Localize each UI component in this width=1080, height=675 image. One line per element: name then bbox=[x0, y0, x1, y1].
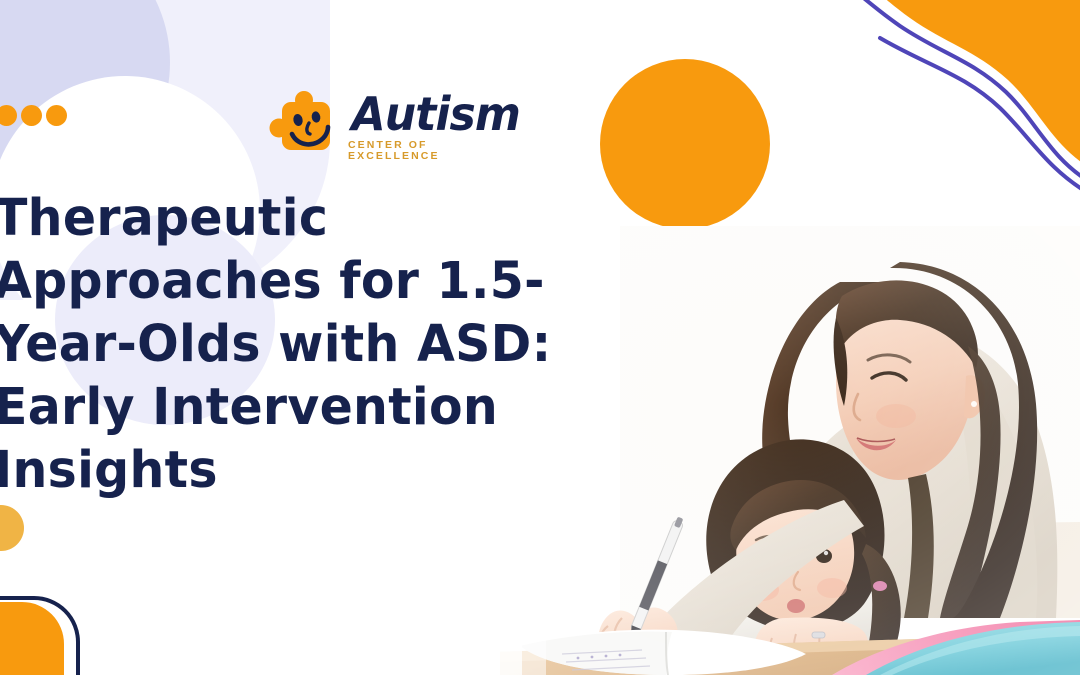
orange-dot-icon bbox=[21, 105, 42, 126]
amber-circle-decor bbox=[0, 505, 24, 551]
logo-text-block: Autism CENTER OF EXCELLENCE bbox=[348, 91, 523, 161]
orange-blob-top-right-decor bbox=[760, 0, 1080, 210]
orange-dot-icon bbox=[46, 105, 67, 126]
hero-banner: Autism CENTER OF EXCELLENCE Therapeutic … bbox=[0, 0, 1080, 675]
bottom-left-shape-decor bbox=[0, 596, 86, 675]
brand-logo[interactable]: Autism CENTER OF EXCELLENCE bbox=[268, 86, 508, 166]
brand-wordmark: Autism bbox=[352, 91, 520, 137]
brand-tagline: CENTER OF EXCELLENCE bbox=[348, 140, 523, 161]
page-title: Therapeutic Approaches for 1.5-Year-Olds… bbox=[0, 187, 666, 502]
autism-puzzle-smiley-icon bbox=[268, 90, 340, 162]
